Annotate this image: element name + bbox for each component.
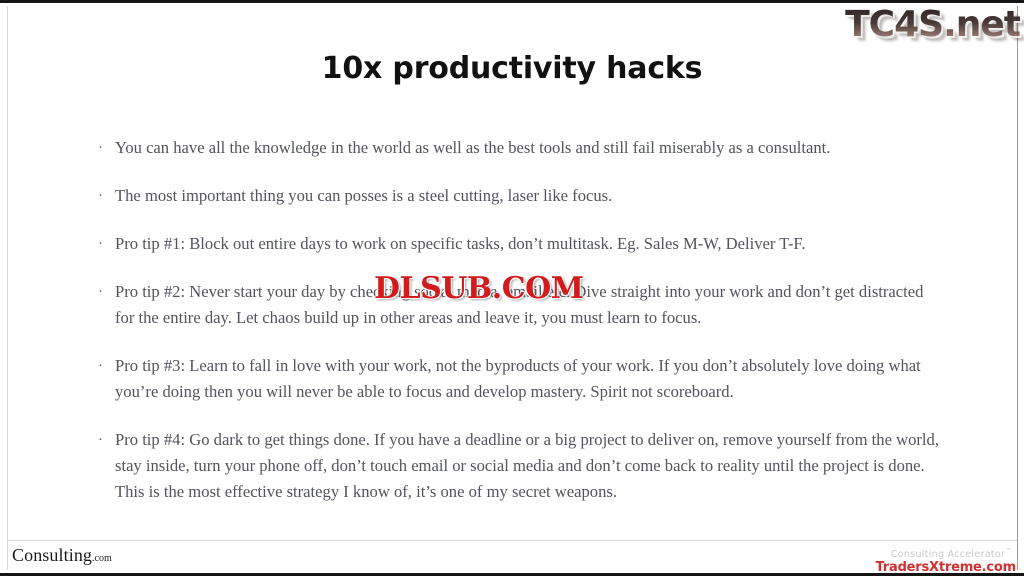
list-item-text: Pro tip #1: Block out entire days to wor… <box>115 231 946 257</box>
bullet-point-icon: · <box>98 135 115 161</box>
bullet-point-icon: · <box>98 427 115 453</box>
left-edge-rule <box>7 6 8 570</box>
list-item-text: Pro tip #4: Go dark to get things done. … <box>115 427 946 505</box>
right-edge-rule <box>1017 6 1018 570</box>
trademark-symbol: ™ <box>1005 547 1012 555</box>
slide-title: 10x productivity hacks <box>0 51 1024 86</box>
dlsub-watermark: DLSUB.COM <box>374 273 583 305</box>
bullet-point-icon: · <box>98 353 115 379</box>
tc4s-watermark: TC4S.net <box>845 5 1020 45</box>
consulting-dot-com-logo: Consulting.com <box>12 545 112 566</box>
footer-divider <box>8 540 1017 541</box>
product-name: Consulting Accelerator <box>891 549 1005 560</box>
list-item: · The most important thing you can posse… <box>98 183 946 209</box>
bullet-point-icon: · <box>98 279 115 305</box>
list-item: · Pro tip #1: Block out entire days to w… <box>98 231 946 257</box>
list-item-text: You can have all the knowledge in the wo… <box>115 135 946 161</box>
list-item-text: Pro tip #3: Learn to fall in love with y… <box>115 353 946 405</box>
list-item: · Pro tip #4: Go dark to get things done… <box>98 427 946 505</box>
list-item-text: The most important thing you can posses … <box>115 183 946 209</box>
tradersxtreme-watermark: TradersXtreme.com <box>876 560 1016 575</box>
bullet-point-icon: · <box>98 183 115 209</box>
presentation-slide: 10x productivity hacks · You can have al… <box>0 0 1024 576</box>
brand-name: Consulting <box>12 545 92 565</box>
bullet-point-icon: · <box>98 231 115 257</box>
list-item: · Pro tip #3: Learn to fall in love with… <box>98 353 946 405</box>
brand-tld: .com <box>92 553 112 564</box>
bullet-list: · You can have all the knowledge in the … <box>98 135 946 505</box>
list-item: · You can have all the knowledge in the … <box>98 135 946 161</box>
consulting-accelerator-label: Consulting Accelerator™ <box>891 547 1012 560</box>
